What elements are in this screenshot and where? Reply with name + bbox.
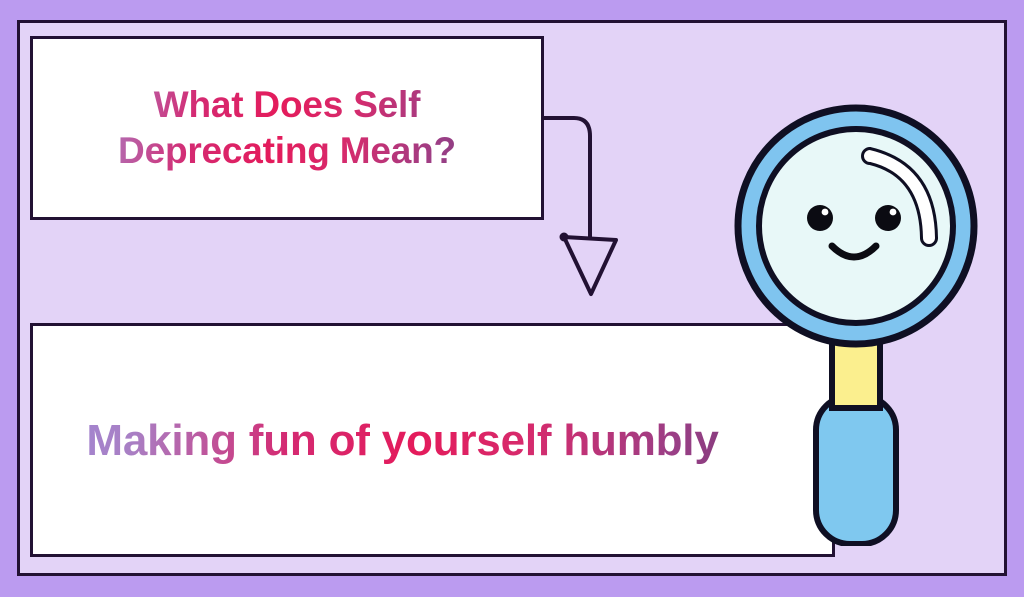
question-text: What Does Self Deprecating Mean? bbox=[33, 82, 541, 175]
answer-card: Making fun of yourself humbly bbox=[30, 323, 835, 557]
left-eye-icon bbox=[807, 205, 833, 231]
answer-text: Making fun of yourself humbly bbox=[33, 413, 832, 468]
magnifying-glass-smiley-icon bbox=[722, 96, 990, 546]
question-card: What Does Self Deprecating Mean? bbox=[30, 36, 544, 220]
right-eye-icon bbox=[875, 205, 901, 231]
infographic-poster: What Does Self Deprecating Mean? Making … bbox=[0, 0, 1024, 597]
